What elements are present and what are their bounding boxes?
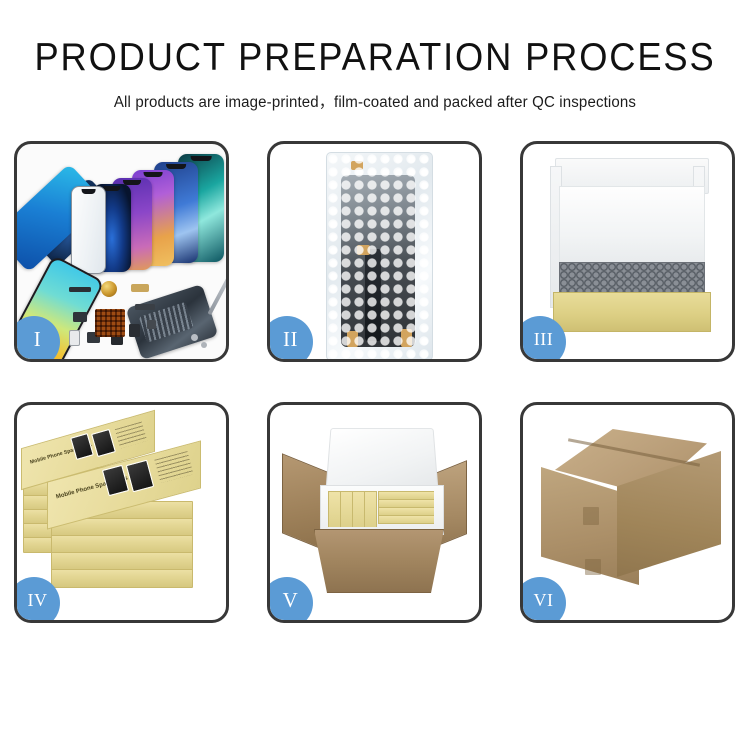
page-title: PRODUCT PREPARATION PROCESS (26, 38, 724, 77)
carton-tab-lower (585, 559, 601, 575)
foam-lid (325, 428, 438, 493)
bubble-wrapped-contents (559, 262, 705, 296)
small-part-7 (129, 324, 140, 337)
page-subtitle: All products are image-printed，film-coat… (11, 90, 739, 112)
small-part-9 (111, 336, 123, 345)
bubble-wrap-bag (326, 152, 433, 359)
packed-box-4 (364, 491, 377, 527)
stacked-box-front-5 (51, 569, 193, 588)
bubble-texture (327, 153, 432, 359)
tweezers-tool (207, 273, 226, 315)
small-part-8 (147, 320, 156, 329)
small-part-3 (135, 304, 155, 310)
process-panel-2[interactable]: II (267, 141, 482, 362)
screw-part-1 (191, 334, 198, 341)
packed-yellow-boxes (328, 489, 434, 527)
screen-protector-glass (71, 186, 106, 274)
ic-chip-part (95, 309, 125, 337)
page-header: PRODUCT PREPARATION PROCESS All products… (0, 0, 750, 112)
process-panel-4[interactable]: Mobile Phone Spare Parts Mobile Phone Sp… (14, 402, 229, 623)
packed-box-8 (378, 515, 434, 524)
speaker-module-part (101, 281, 117, 297)
process-panel-6[interactable]: VI (520, 402, 735, 623)
small-part-2 (131, 284, 149, 292)
process-panel-5[interactable]: V (267, 402, 482, 623)
process-panel-1[interactable]: I (14, 141, 229, 362)
sealed-carton (541, 429, 721, 591)
small-part-1 (69, 287, 91, 292)
small-part-5 (69, 330, 80, 346)
foam-sheet (559, 186, 705, 268)
small-part-4 (73, 312, 87, 322)
screw-part-2 (201, 342, 207, 348)
carton-front-panel (314, 529, 444, 593)
process-panel-grid: I II III (14, 141, 736, 623)
yellow-box-front-panel (553, 292, 711, 332)
process-panel-3[interactable]: III (520, 141, 735, 362)
carton-tab-upper (583, 507, 599, 525)
